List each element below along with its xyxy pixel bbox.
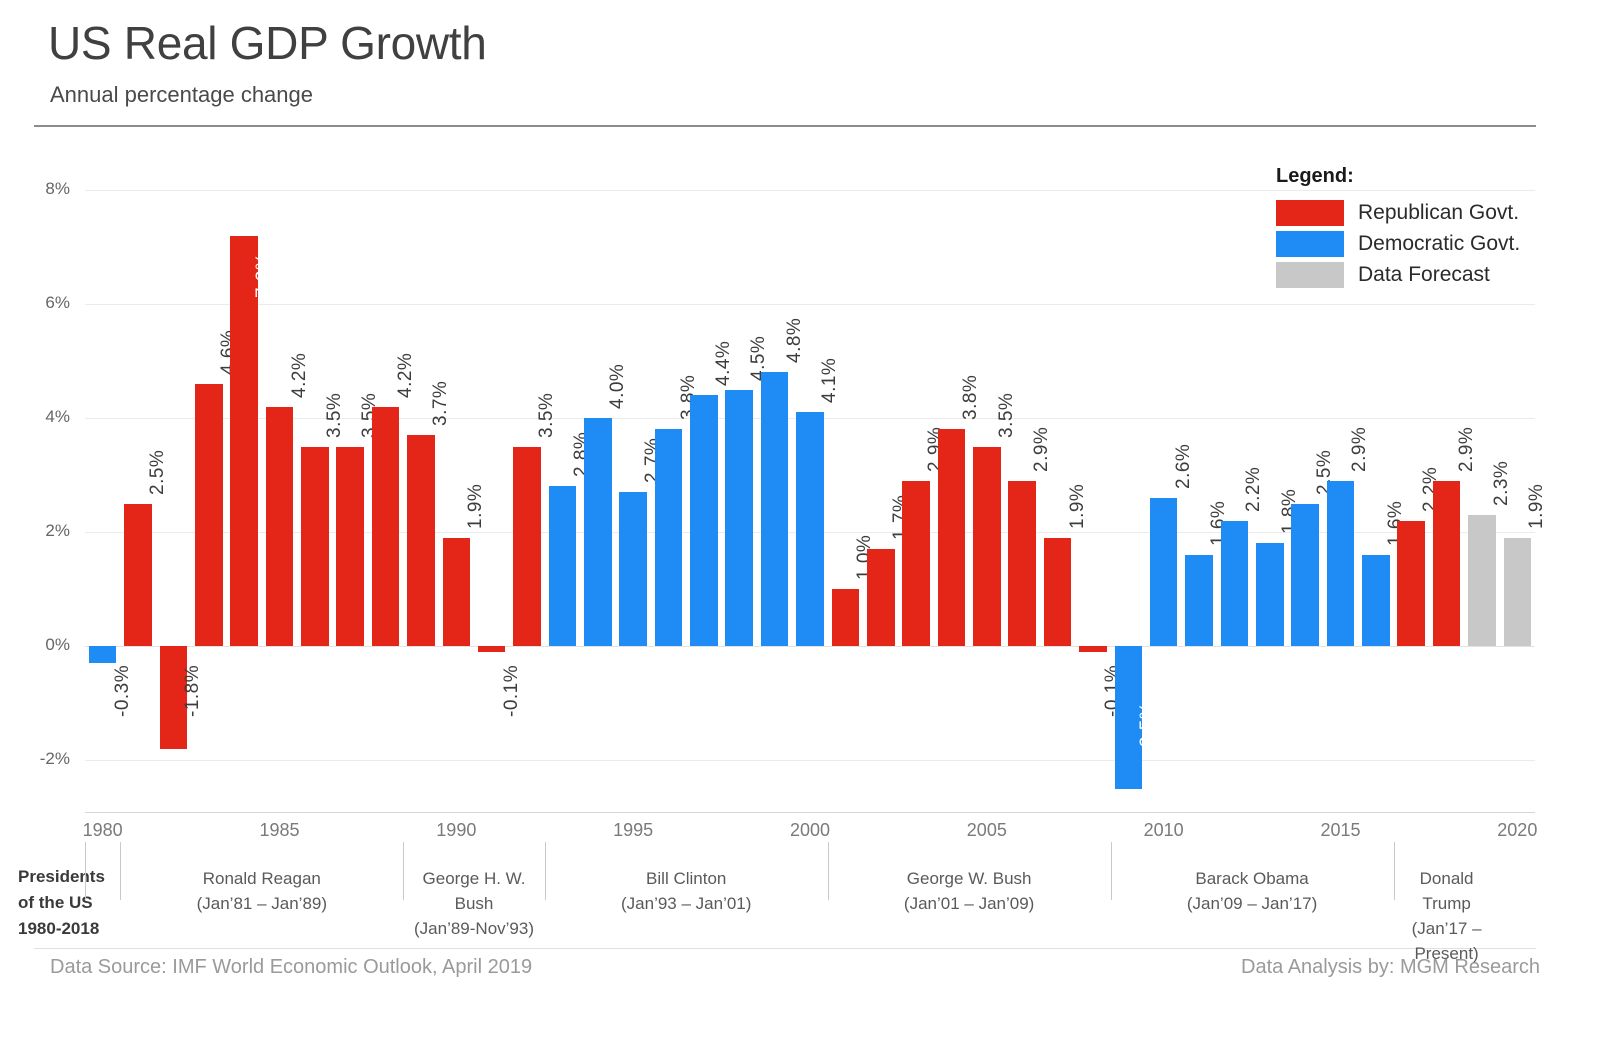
bar-2010[interactable] (1150, 498, 1178, 646)
bar-2001[interactable] (832, 589, 860, 646)
bar-2015[interactable] (1327, 481, 1355, 646)
bar-1998[interactable] (725, 390, 753, 647)
bar-1989[interactable] (407, 435, 435, 646)
president-term-bill-clinton: Bill Clinton(Jan’93 – Jan’01) (545, 866, 828, 916)
bar-2012[interactable] (1221, 521, 1249, 646)
legend-item-republican: Republican Govt. (1276, 197, 1520, 228)
bar-label-1986: 3.5% (324, 392, 346, 437)
president-name: Bill Clinton (545, 866, 828, 891)
president-name: Bush (403, 891, 544, 916)
bar-label-1999: 4.8% (784, 318, 806, 363)
president-name: Ronald Reagan (120, 866, 403, 891)
bar-label-2019: 2.3% (1491, 461, 1513, 506)
y-axis-tick-label: 6% (10, 293, 70, 313)
y-axis-tick-label: 0% (10, 635, 70, 655)
bar-2008[interactable] (1079, 646, 1107, 652)
chart-legend: Legend: Republican Govt. Democratic Govt… (1276, 165, 1520, 290)
bar-label-1981: 2.5% (147, 449, 169, 494)
bar-1981[interactable] (124, 504, 152, 647)
president-term-dates: (Jan’93 – Jan’01) (545, 891, 828, 916)
x-axis-tick-2005: 2005 (947, 820, 1027, 841)
legend-label-democratic: Democratic Govt. (1358, 232, 1520, 256)
bar-1980[interactable] (89, 646, 117, 663)
bar-2006[interactable] (1008, 481, 1036, 646)
bar-label-1985: 4.2% (289, 352, 311, 397)
president-term-george-w-bush: George W. Bush(Jan’01 – Jan’09) (828, 866, 1111, 916)
bar-2017[interactable] (1397, 521, 1425, 646)
presidents-heading: Presidentsof the US1980-2018 (18, 864, 128, 942)
bar-2000[interactable] (796, 412, 824, 646)
bar-label-1990: 1.9% (465, 483, 487, 528)
bar-2005[interactable] (973, 447, 1001, 647)
bar-label-2004: 3.8% (960, 375, 982, 420)
bar-label-1991: -0.1% (501, 665, 523, 717)
president-term-dates: (Jan’81 – Jan’89) (120, 891, 403, 916)
bar-1992[interactable] (513, 447, 541, 647)
presidents-heading-line: of the US (18, 890, 128, 916)
bar-label-2005: 3.5% (996, 392, 1018, 437)
bar-2002[interactable] (867, 549, 895, 646)
president-name: George W. Bush (828, 866, 1111, 891)
bar-label-1994: 4.0% (607, 364, 629, 409)
x-axis-line (85, 812, 1535, 813)
president-term-george-h-w-bush: George H. W.Bush(Jan’89-Nov’93) (403, 866, 544, 941)
bar-label-2020: 1.9% (1526, 483, 1548, 528)
bar-2020[interactable] (1504, 538, 1532, 646)
bar-1988[interactable] (372, 407, 400, 646)
y-axis-tick-label: 2% (10, 521, 70, 541)
bar-label-2006: 2.9% (1031, 426, 1053, 471)
bar-label-1997: 4.4% (713, 341, 735, 386)
bar-1999[interactable] (761, 372, 789, 646)
bar-label-1989: 3.7% (430, 381, 452, 426)
bar-1997[interactable] (690, 395, 718, 646)
president-name: Barack Obama (1111, 866, 1394, 891)
bar-label-1992: 3.5% (536, 392, 558, 437)
legend-item-forecast: Data Forecast (1276, 259, 1520, 290)
presidents-heading-line: 1980-2018 (18, 916, 128, 942)
legend-swatch-democratic (1276, 231, 1344, 257)
bar-label-2015: 2.9% (1349, 426, 1371, 471)
x-axis-tick-1990: 1990 (416, 820, 496, 841)
bar-label-2012: 2.2% (1243, 466, 1265, 511)
gridline--2pct (85, 760, 1535, 761)
president-term-barack-obama: Barack Obama(Jan’09 – Jan’17) (1111, 866, 1394, 916)
gridline-6pct (85, 304, 1535, 305)
bar-2011[interactable] (1185, 555, 1213, 646)
bar-2014[interactable] (1291, 504, 1319, 647)
x-axis-tick-2010: 2010 (1124, 820, 1204, 841)
gridline-0pct (85, 646, 1535, 647)
bar-2019[interactable] (1468, 515, 1496, 646)
x-axis-tick-1985: 1985 (240, 820, 320, 841)
bar-label-2007: 1.9% (1067, 483, 1089, 528)
bar-1987[interactable] (336, 447, 364, 647)
presidents-heading-line: Presidents (18, 864, 128, 890)
president-term-ronald-reagan: Ronald Reagan(Jan’81 – Jan’89) (120, 866, 403, 916)
bar-label-2000: 4.1% (819, 358, 841, 403)
president-name: Donald Trump (1394, 866, 1500, 916)
bar-1995[interactable] (619, 492, 647, 646)
footer-divider (34, 948, 1536, 949)
president-term-donald-trump: Donald Trump(Jan’17 – Present) (1394, 866, 1500, 966)
bar-label-2010: 2.6% (1173, 443, 1195, 488)
president-term-dates: (Jan’17 – Present) (1394, 916, 1500, 966)
legend-label-forecast: Data Forecast (1358, 263, 1490, 287)
bar-label-2018: 2.9% (1456, 426, 1478, 471)
bar-1983[interactable] (195, 384, 223, 646)
legend-swatch-republican (1276, 200, 1344, 226)
y-axis-tick-label: -2% (10, 749, 70, 769)
bar-2004[interactable] (938, 429, 966, 646)
president-term-dates: (Jan’09 – Jan’17) (1111, 891, 1394, 916)
bar-1985[interactable] (266, 407, 294, 646)
x-axis-tick-1995: 1995 (593, 820, 673, 841)
bar-2007[interactable] (1044, 538, 1072, 646)
bar-1991[interactable] (478, 646, 506, 652)
bar-1986[interactable] (301, 447, 329, 647)
x-axis-tick-2015: 2015 (1300, 820, 1380, 841)
bar-1990[interactable] (443, 538, 471, 646)
legend-swatch-forecast (1276, 262, 1344, 288)
bar-label-2009: -2.5% (1137, 702, 1159, 754)
legend-title: Legend: (1276, 165, 1520, 188)
bar-label-1984: 7.2% (253, 252, 275, 297)
bar-label-1988: 4.2% (395, 352, 417, 397)
legend-item-democratic: Democratic Govt. (1276, 228, 1520, 259)
x-axis-tick-1980: 1980 (63, 820, 143, 841)
y-axis-tick-label: 8% (10, 179, 70, 199)
data-source-text: Data Source: IMF World Economic Outlook,… (50, 956, 532, 979)
bar-2013[interactable] (1256, 543, 1284, 646)
president-term-dates: (Jan’01 – Jan’09) (828, 891, 1111, 916)
bar-1996[interactable] (655, 429, 683, 646)
president-separator-1980 (85, 842, 86, 900)
president-name: George H. W. (403, 866, 544, 891)
bar-1994[interactable] (584, 418, 612, 646)
y-axis-tick-label: 4% (10, 407, 70, 427)
x-axis-tick-2020: 2020 (1477, 820, 1557, 841)
legend-label-republican: Republican Govt. (1358, 201, 1519, 225)
x-axis-tick-2000: 2000 (770, 820, 850, 841)
bar-label-1982: -1.8% (182, 665, 204, 717)
bar-2003[interactable] (902, 481, 930, 646)
bar-2016[interactable] (1362, 555, 1390, 646)
bar-2018[interactable] (1433, 481, 1461, 646)
bar-label-1980: -0.3% (112, 665, 134, 717)
president-term-dates: (Jan’89-Nov’93) (403, 916, 544, 941)
bar-1993[interactable] (549, 486, 577, 646)
